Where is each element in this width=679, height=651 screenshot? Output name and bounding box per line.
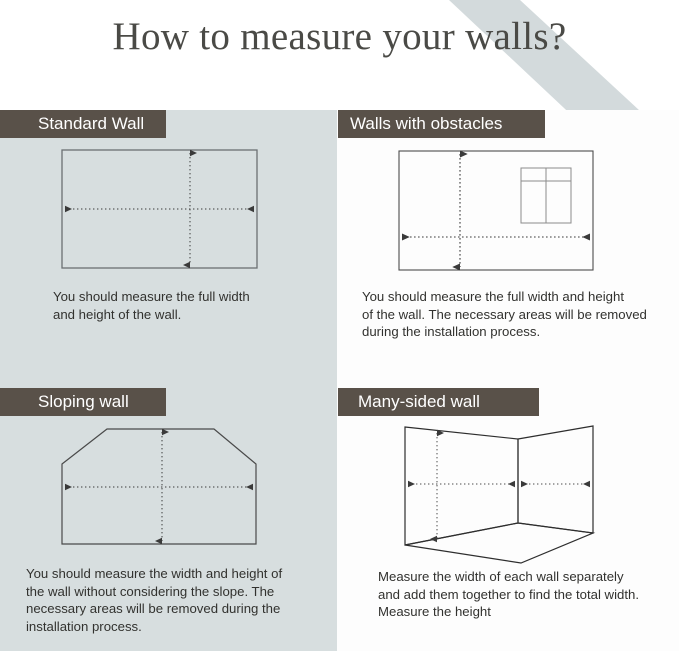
panel-badge-walls-with-obstacles: Walls with obstacles xyxy=(338,110,545,138)
diagram-walls-with-obstacles xyxy=(385,140,610,280)
caption-walls-with-obstacles: You should measure the full width and he… xyxy=(362,288,662,341)
caption-sloping-wall: You should measure the width and height … xyxy=(26,565,316,635)
infographic-page: How to measure your walls? Standard Wall… xyxy=(0,0,679,651)
panel-badge-sloping-wall: Sloping wall xyxy=(0,388,166,416)
caption-standard-wall: You should measure the full width and he… xyxy=(53,288,323,323)
diagram-many-sided-wall xyxy=(378,415,613,565)
caption-many-sided-wall: Measure the width of each wall separatel… xyxy=(378,568,668,621)
floor-face xyxy=(405,523,593,563)
panel-badge-many-sided-wall: Many-sided wall xyxy=(338,388,539,416)
left-wall-face xyxy=(405,427,518,545)
wall-outline xyxy=(62,150,257,268)
wall-outline xyxy=(399,151,593,270)
diagram-sloping-wall xyxy=(40,420,300,545)
diagram-standard-wall xyxy=(40,140,300,280)
right-wall-face xyxy=(518,426,593,533)
page-title: How to measure your walls? xyxy=(0,14,679,59)
panel-badge-standard-wall: Standard Wall xyxy=(0,110,166,138)
window-obstacle xyxy=(521,168,571,223)
wall-outline xyxy=(62,429,256,544)
